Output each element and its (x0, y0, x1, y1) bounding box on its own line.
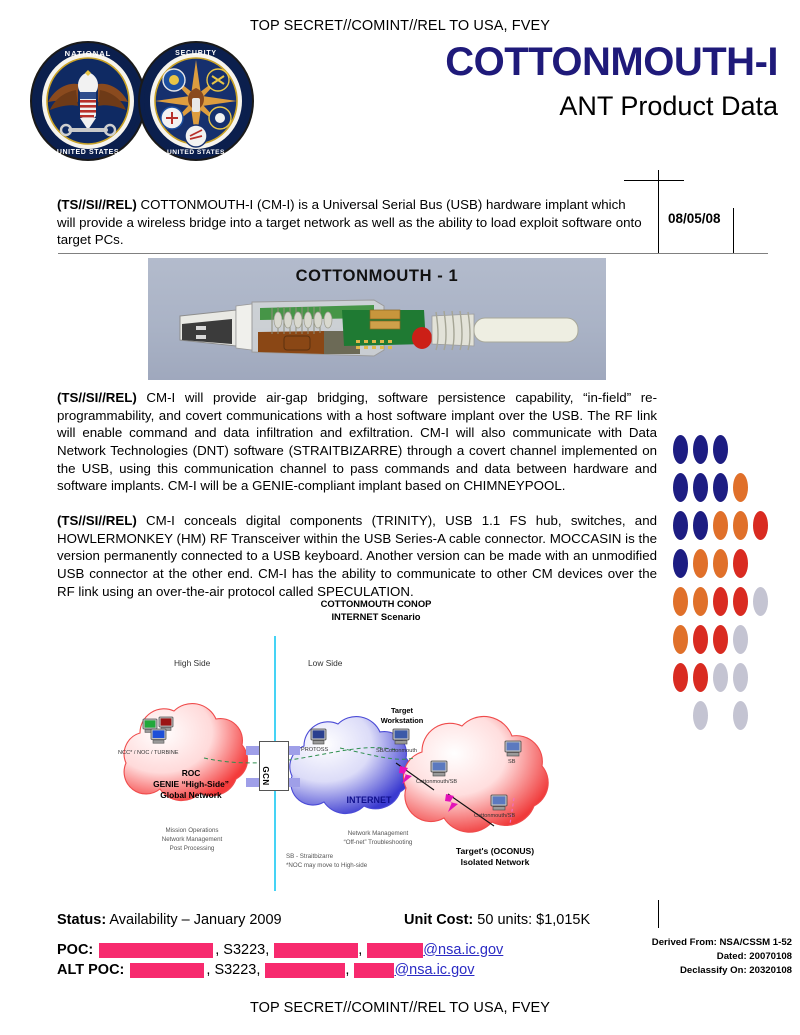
body-paragraph-2: (TS//SI//REL) CM-I conceals digital comp… (57, 512, 657, 600)
decoration-oval (713, 625, 728, 654)
decoration-oval (713, 435, 728, 464)
paragraph-2-marking: (TS//SI//REL) (57, 513, 137, 528)
figure-caption: COTTONMOUTH - 1 (148, 267, 606, 286)
poc-row: POC: , S3223, , @nsa.ic.gov (57, 940, 503, 960)
caption-internet: Network Management “Off-net” Troubleshoo… (318, 830, 438, 848)
intro-text: COTTONMOUTH-I (CM-I) is a Universal Seri… (57, 197, 642, 247)
decoration-oval (673, 511, 688, 540)
svg-text:SECURITY: SECURITY (175, 50, 217, 57)
dated: Dated: 20070108 (592, 950, 792, 964)
node-label-target-workstation: Target Workstation (372, 706, 432, 725)
alt-poc-sep: , (345, 960, 349, 981)
target-ws-line-2: Workstation (372, 716, 432, 726)
node-label-sb: SB (508, 759, 515, 765)
alt-poc-row: ALT POC: , S3223, , @nsa.ic.gov (57, 960, 503, 980)
crop-mark-footer (658, 900, 659, 928)
declassify-on: Declassify On: 20320108 (592, 964, 792, 978)
svg-text:NATIONAL: NATIONAL (65, 49, 112, 58)
crop-mark-vertical (658, 170, 659, 254)
node-label-cottonmouth-sb-1: Cottonmouth/SB (416, 779, 457, 785)
title-block: COTTONMOUTH-I ANT Product Data (318, 42, 778, 120)
alt-poc-org: , S3223, (206, 960, 260, 981)
decoration-oval (693, 587, 708, 616)
gcn-gateway-box: GCN (259, 741, 289, 791)
intro-marking: (TS//SI//REL) (57, 197, 137, 212)
decoration-oval (713, 663, 728, 692)
poc-sep: , (358, 940, 362, 961)
decoration-oval (693, 663, 708, 692)
target-net-line-2: Isolated Network (440, 857, 550, 868)
poc-block: POC: , S3223, , @nsa.ic.gov ALT POC: , S… (57, 940, 503, 980)
decoration-oval (733, 625, 748, 654)
footnote-sb: SB - Straitbizarre (286, 853, 406, 862)
alt-poc-email-domain[interactable]: @nsa.ic.gov (394, 960, 474, 981)
nsa-seal: NATIONAL UNITED STATES (28, 40, 148, 162)
cloud-label-internet: INTERNET (334, 795, 404, 807)
svg-text:UNITED STATES: UNITED STATES (167, 149, 225, 156)
pc-icon-blue (150, 728, 167, 744)
pc-icon-sb (504, 740, 522, 757)
cloud-label-high-side: ROC GENIE “High-Side” Global Network (142, 768, 240, 801)
cloud-high-line-2: GENIE “High-Side” (142, 779, 240, 790)
node-label-sb-cottonmouth: SB/Cottonmouth (376, 748, 417, 754)
footnote-noc: *NOC may move to High-side (286, 862, 406, 871)
decoration-oval (733, 587, 748, 616)
decoration-oval (693, 473, 708, 502)
decoration-oval (733, 473, 748, 502)
target-net-line-1: Target's (OCONUS) (440, 846, 550, 857)
paragraph-1-marking: (TS//SI//REL) (57, 390, 137, 405)
unit-cost-value: 50 units: $1,015K (473, 912, 590, 928)
poc-name-redaction (99, 943, 213, 958)
node-label-protoss: PROTOSS (301, 747, 328, 753)
poc-org: , S3223, (215, 940, 269, 961)
decoration-oval (733, 511, 748, 540)
bottom-classification-banner: TOP SECRET//COMINT//REL TO USA, FVEY (0, 1000, 800, 1016)
top-classification-banner: TOP SECRET//COMINT//REL TO USA, FVEY (0, 18, 800, 34)
pc-icon-cottonmouth-sb-1 (430, 760, 448, 777)
status-label: Status: (57, 912, 106, 928)
conop-footnotes: SB - Straitbizarre *NOC may move to High… (286, 853, 406, 871)
decoration-oval (713, 473, 728, 502)
alt-poc-email-redaction (354, 963, 394, 978)
node-label-cottonmouth-sb-2: Cottonmouth/SB (474, 813, 515, 819)
svg-text:UNITED STATES: UNITED STATES (57, 149, 119, 156)
central-security-service-seal: SECURITY UNITED STATES (136, 40, 256, 162)
decoration-oval (693, 435, 708, 464)
decoration-oval (753, 511, 768, 540)
poc-phone-redaction (274, 943, 358, 958)
decoration-oval (673, 625, 688, 654)
decoration-oval (713, 511, 728, 540)
page-subtitle: ANT Product Data (318, 92, 778, 120)
decoration-oval (733, 549, 748, 578)
pc-icon-target-workstation (392, 728, 410, 745)
decoration-oval (673, 435, 688, 464)
decoration-oval (713, 587, 728, 616)
unit-cost-line: Unit Cost: 50 units: $1,015K (404, 912, 590, 928)
gcn-label: GCN (242, 752, 270, 800)
paragraph-2-text: CM-I conceals digital components (TRINIT… (57, 513, 657, 599)
unit-cost-label: Unit Cost: (404, 912, 473, 928)
ant-oval-decoration (673, 435, 795, 770)
decoration-oval (753, 587, 768, 616)
decoration-oval (673, 587, 688, 616)
decoration-oval (693, 511, 708, 540)
alt-poc-name-redaction (130, 963, 204, 978)
decoration-oval (693, 701, 708, 730)
node-label-ncc: NCC* / NOC / TURBINE (118, 750, 179, 756)
alt-poc-phone-redaction (265, 963, 345, 978)
decoration-oval (673, 549, 688, 578)
document-date: 08/05/08 (668, 211, 721, 226)
crop-mark-top-tick (624, 180, 684, 181)
derivative-classification-block: Derived From: NSA/CSSM 1-52 Dated: 20070… (592, 936, 792, 978)
decoration-oval (673, 473, 688, 502)
decoration-oval (693, 625, 708, 654)
derived-from: Derived From: NSA/CSSM 1-52 (592, 936, 792, 950)
usb-connector-render (174, 288, 584, 368)
poc-email-domain[interactable]: @nsa.ic.gov (423, 940, 503, 961)
intro-paragraph: (TS//SI//REL) COTTONMOUTH-I (CM-I) is a … (57, 196, 647, 249)
section-divider (58, 253, 768, 254)
pc-icon-cottonmouth-sb-2 (490, 794, 508, 811)
crop-mark-right-tick (733, 208, 734, 254)
decoration-oval (673, 663, 688, 692)
conop-diagram: COTTONMOUTH CONOP INTERNET Scenario High… (96, 598, 656, 898)
agency-seals: NATIONAL UNITED STATES S (28, 40, 263, 162)
pc-icon-protoss (310, 728, 327, 745)
body-paragraph-1: (TS//SI//REL) CM-I will provide air-gap … (57, 389, 657, 495)
paragraph-1-text: CM-I will provide air-gap bridging, soft… (57, 390, 657, 493)
status-value: Availability – January 2009 (106, 912, 281, 928)
alt-poc-label: ALT POC: (57, 960, 124, 981)
decoration-oval (693, 549, 708, 578)
target-ws-line-1: Target (372, 706, 432, 716)
decoration-oval (733, 663, 748, 692)
decoration-oval (713, 549, 728, 578)
caption-high-side: Mission Operations Network Management Po… (134, 827, 250, 854)
product-figure: COTTONMOUTH - 1 (148, 258, 606, 380)
cloud-high-line-3: Global Network (142, 790, 240, 801)
cloud-label-target-network: Target's (OCONUS) Isolated Network (440, 846, 550, 868)
poc-label: POC: (57, 940, 93, 961)
status-line: Status: Availability – January 2009 (57, 912, 282, 928)
poc-email-redaction (367, 943, 423, 958)
page-title: COTTONMOUTH-I (318, 42, 778, 82)
cloud-high-line-1: ROC (142, 768, 240, 779)
decoration-oval (733, 701, 748, 730)
